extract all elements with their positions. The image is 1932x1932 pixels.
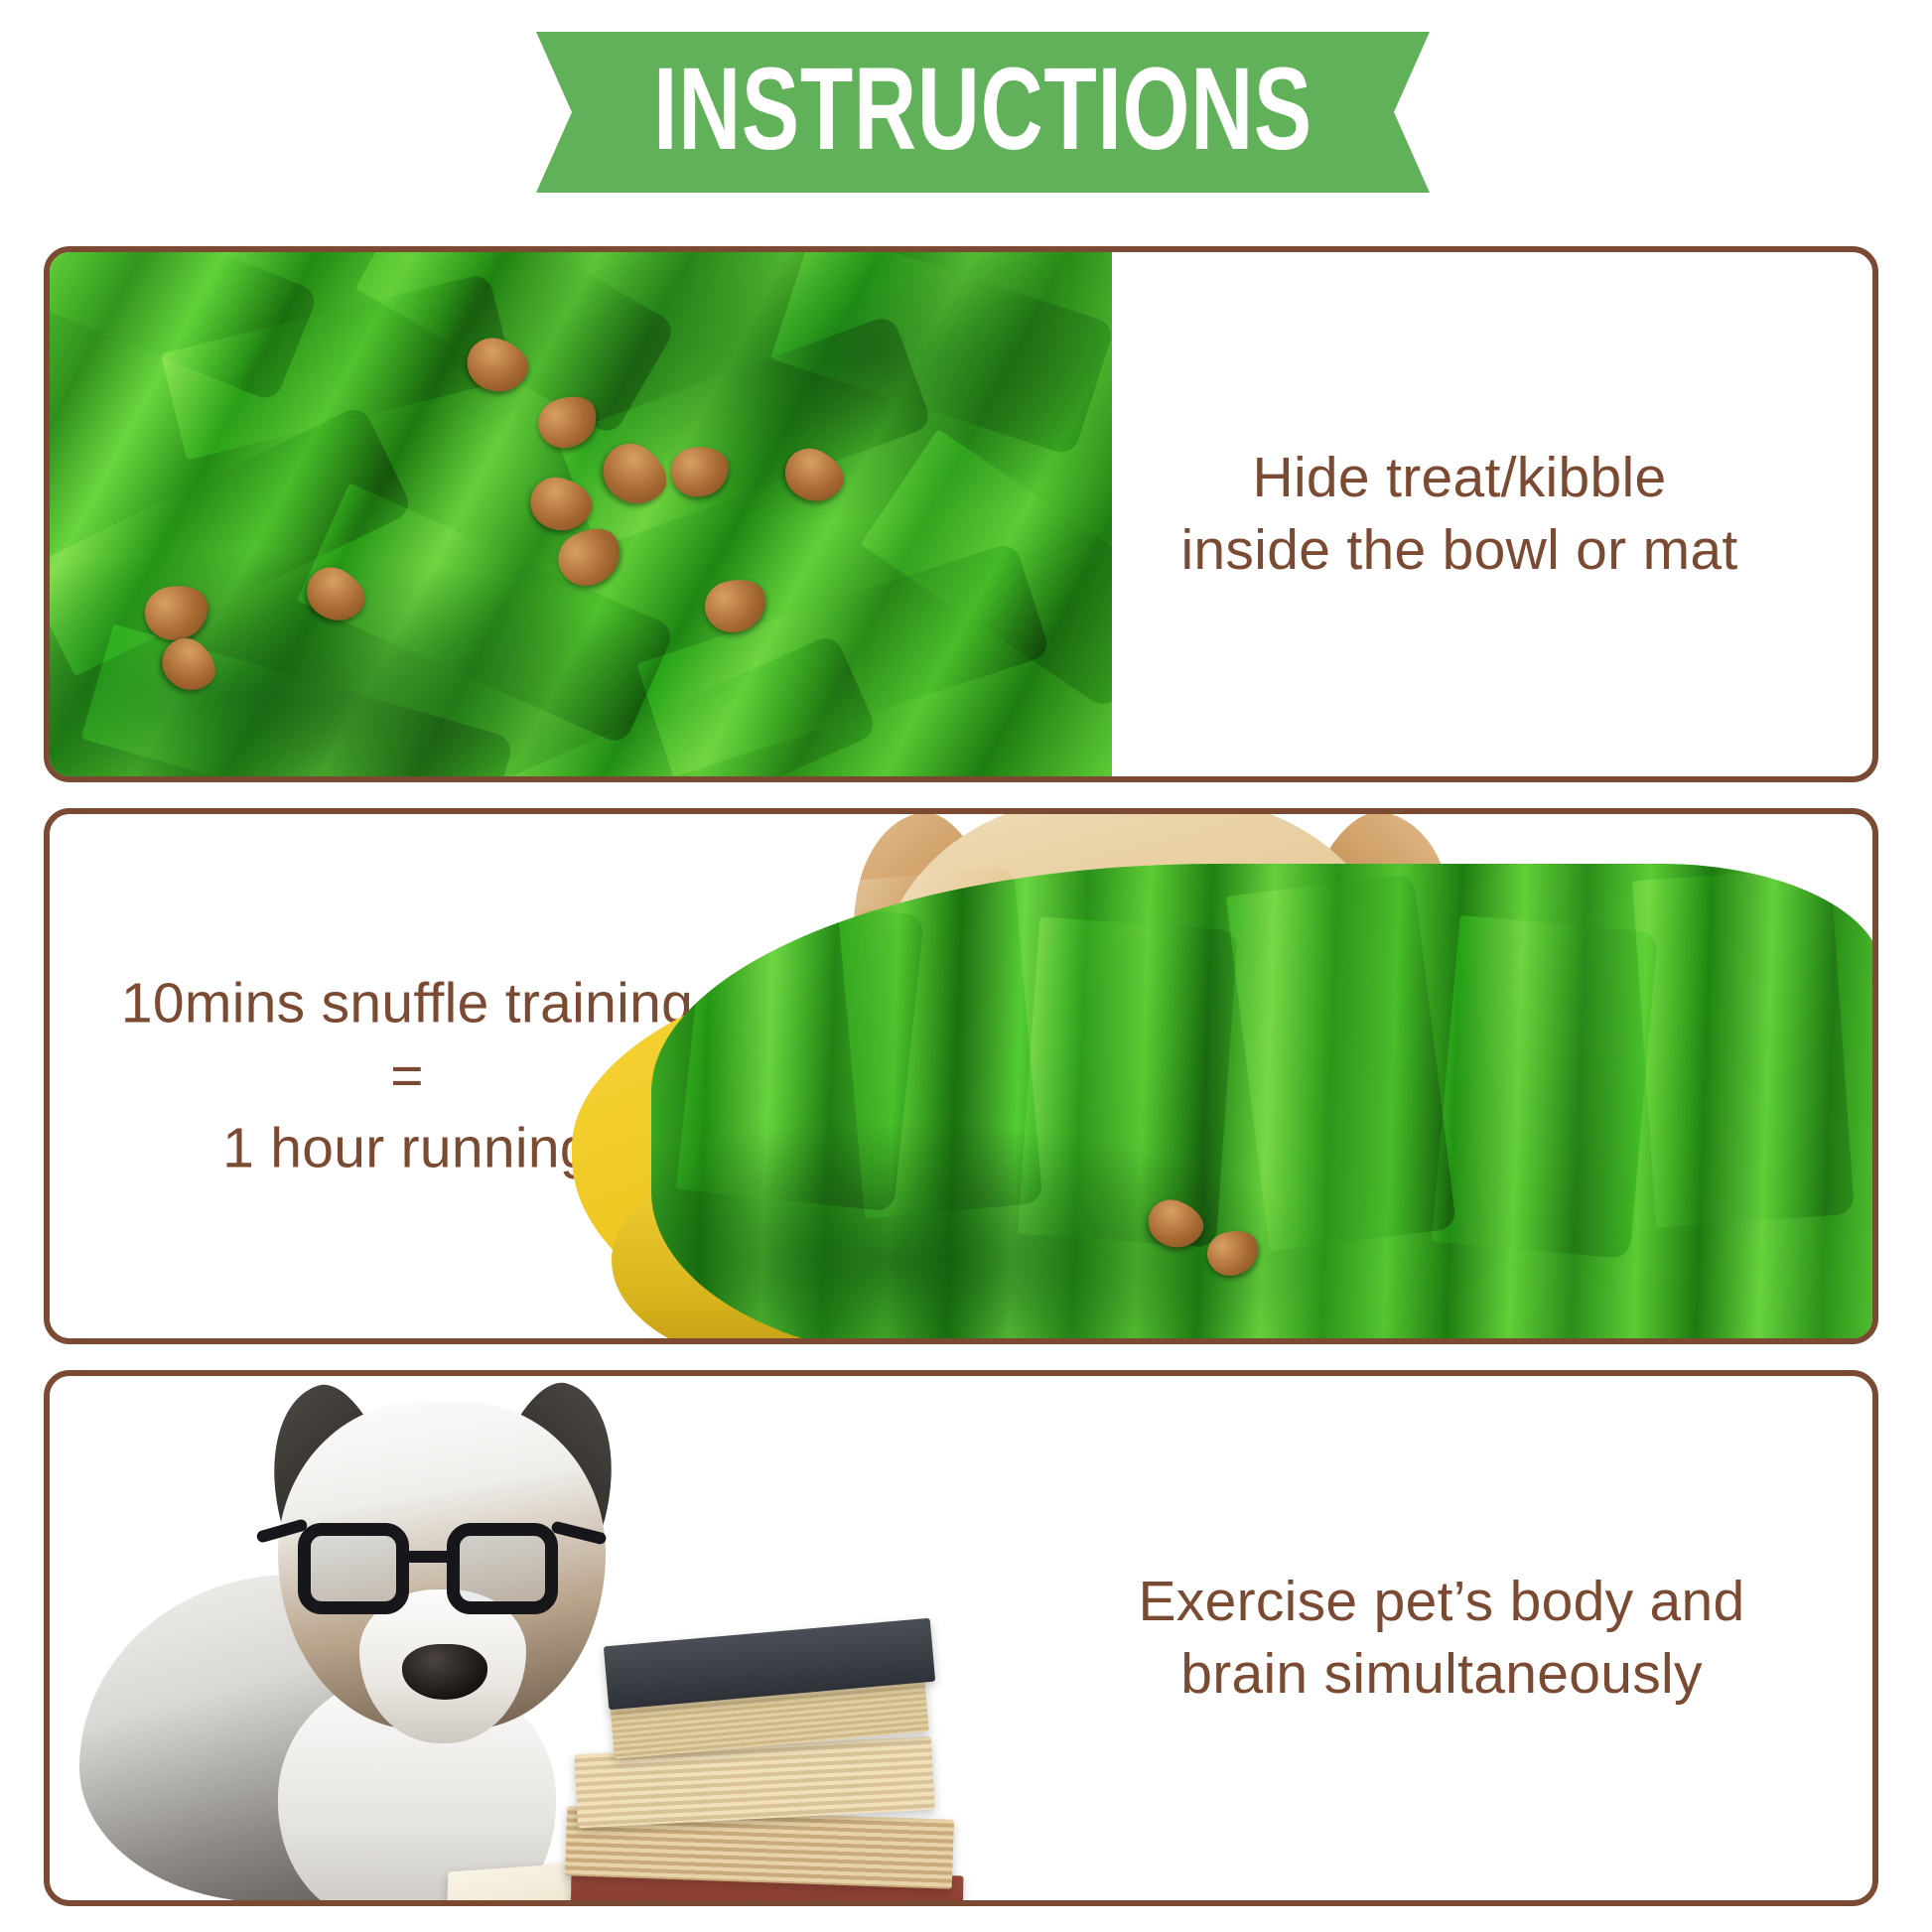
dog-with-glasses-books-image xyxy=(50,1376,1142,1900)
dog-snuffle-bowl-image xyxy=(552,814,1872,1338)
instruction-step-1: Hide treat/kibble inside the bowl or mat xyxy=(44,246,1878,782)
snuffle-mat-kibble-image xyxy=(50,252,1112,776)
instruction-step-3: Exercise pet’s body and brain simultaneo… xyxy=(44,1370,1878,1906)
instruction-step-1-text: Hide treat/kibble inside the bowl or mat xyxy=(1082,442,1837,587)
glasses-bridge xyxy=(405,1551,453,1563)
instruction-step-2: 10mins snuffle training = 1 hour running xyxy=(44,808,1878,1344)
instructions-banner: INSTRUCTIONS xyxy=(536,32,1430,193)
glasses-lens-left xyxy=(298,1523,409,1614)
snuffle-bowl-green-fronds xyxy=(651,864,1872,1338)
page-title: INSTRUCTIONS xyxy=(652,32,1313,193)
glasses-lens-right xyxy=(447,1523,558,1614)
instruction-step-3-text: Exercise pet’s body and brain simultaneo… xyxy=(1044,1566,1839,1711)
